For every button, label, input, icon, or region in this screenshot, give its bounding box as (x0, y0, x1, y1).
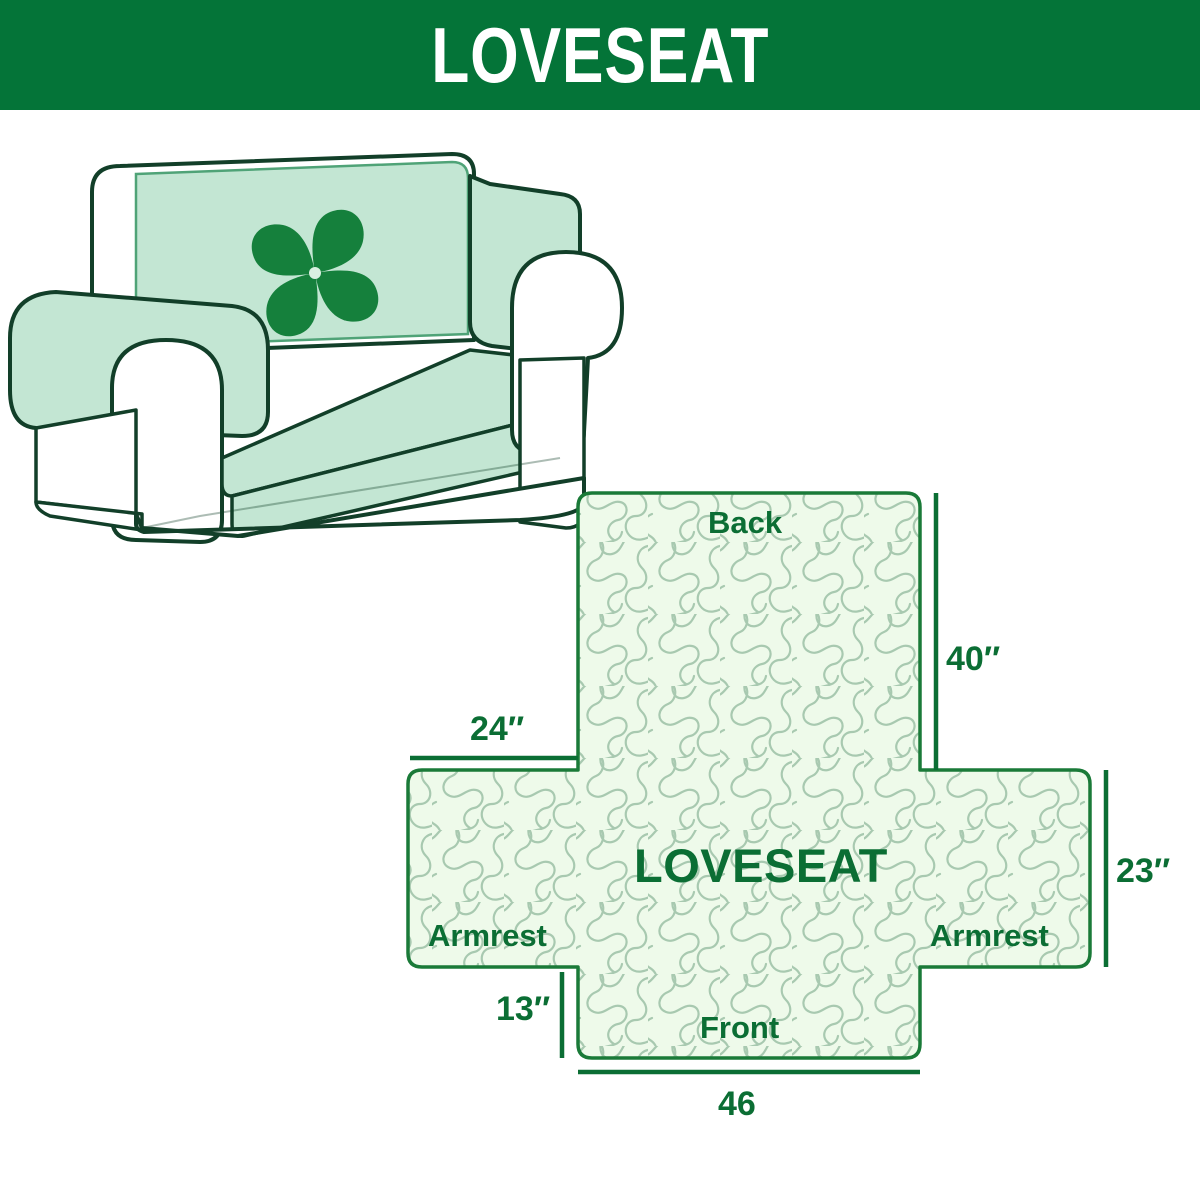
dimension-label-front-height: 13″ (496, 990, 550, 1029)
dimension-label-back-height: 40″ (946, 640, 1000, 679)
label-back: Back (708, 505, 782, 541)
cover-cross-shape (408, 493, 1090, 1058)
label-armrest-right: Armrest (930, 918, 1049, 954)
cover-dimension-diagram (0, 110, 1200, 1200)
dimension-label-seat-width: 46 (718, 1085, 756, 1124)
dimension-label-armrest-width: 24″ (470, 710, 524, 749)
dimension-label-armrest-height: 23″ (1116, 852, 1170, 891)
header-banner: LOVESEAT (0, 0, 1200, 110)
label-armrest-left: Armrest (428, 918, 547, 954)
label-front: Front (700, 1010, 779, 1046)
illustration-stage: Back Front Armrest Armrest LOVESEAT 40″ … (0, 110, 1200, 1200)
label-center-loveseat: LOVESEAT (634, 838, 888, 893)
page-title: LOVESEAT (431, 16, 769, 94)
